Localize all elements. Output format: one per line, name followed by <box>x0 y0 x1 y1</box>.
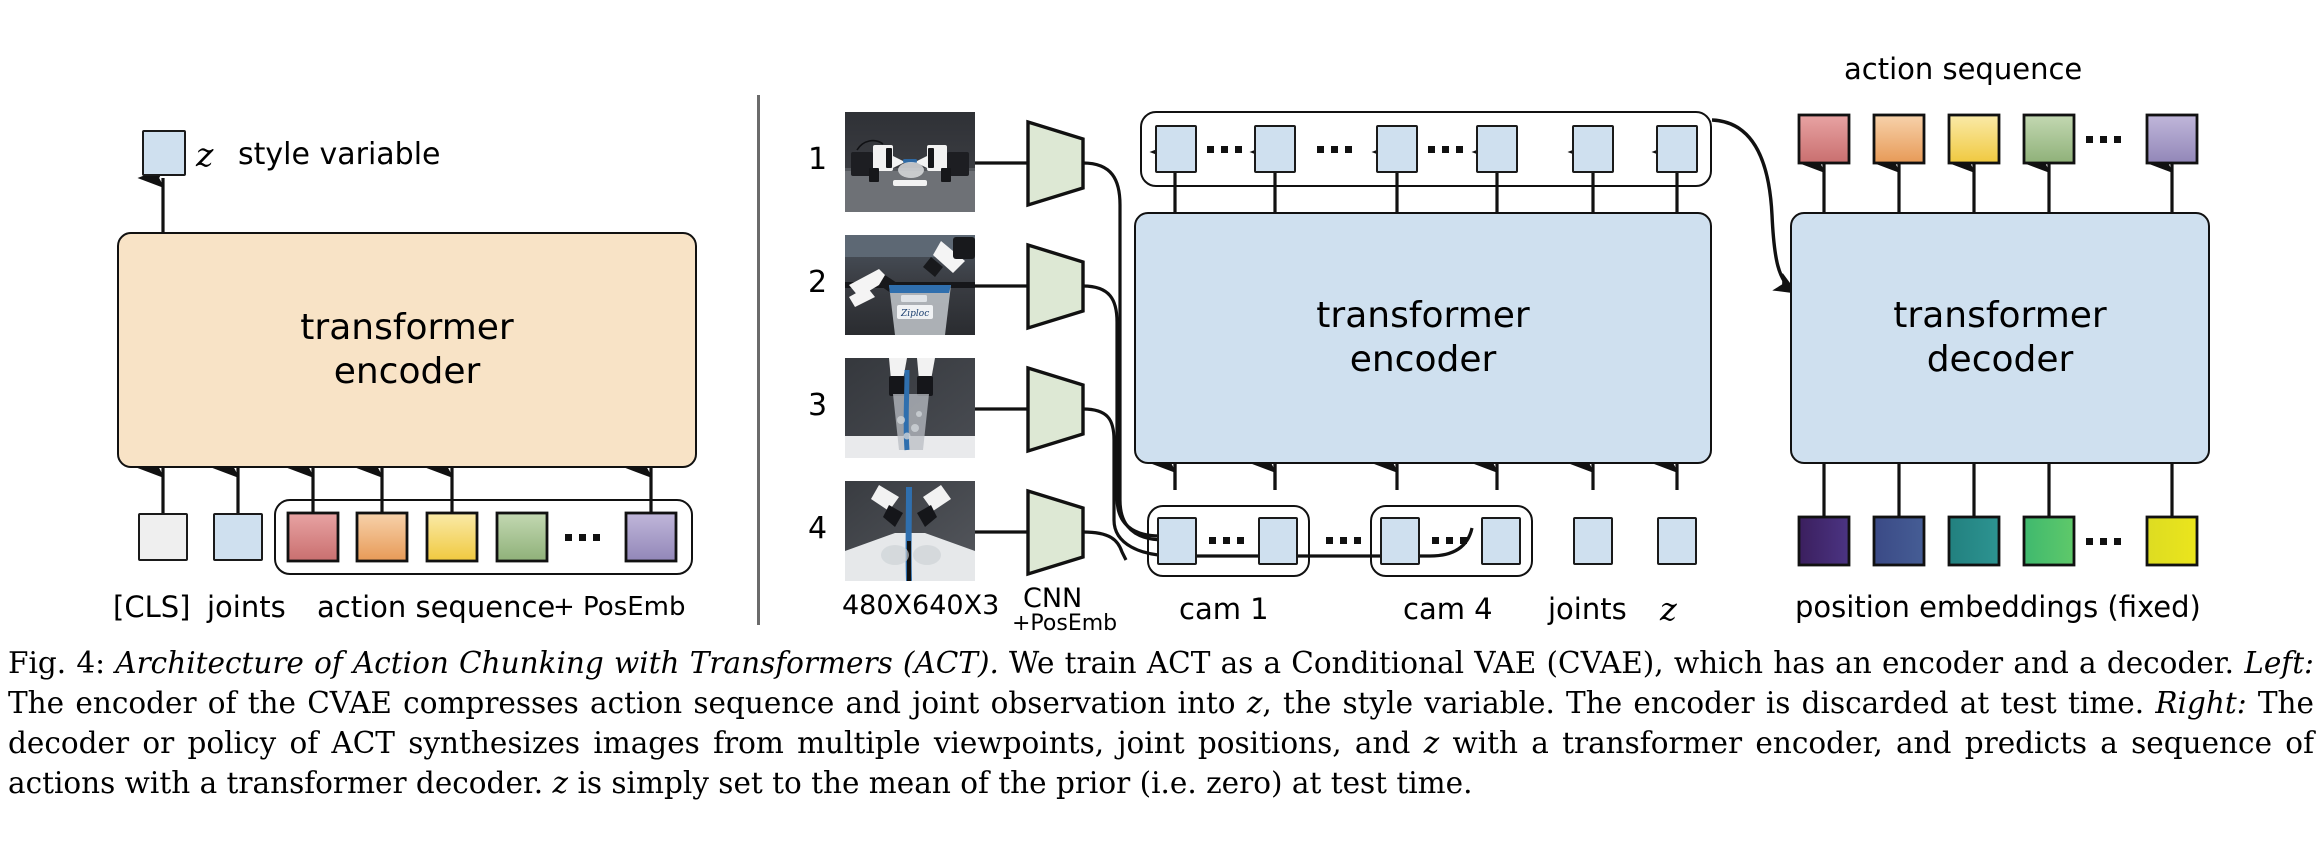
cam4-feature-token-first <box>1380 517 1420 565</box>
encoder-output-ellipsis-3 <box>1428 146 1463 153</box>
encoder-output-token-3 <box>1376 125 1418 173</box>
encoder-output-token-6 <box>1656 125 1698 173</box>
style-variable-token <box>142 130 186 176</box>
camera-thumbnail-2: Ziploc <box>845 235 975 335</box>
label-action-sequence-right: action sequence <box>1844 52 2082 86</box>
label-z-right: z <box>1660 590 1677 628</box>
label-joints-right: joints <box>1548 592 1627 626</box>
left-transformer-encoder: transformer encoder <box>117 232 697 468</box>
decoder-output-ellipsis <box>2086 136 2121 143</box>
caption-part6: is simply set to the mean of the prior (… <box>568 766 1472 800</box>
right-encoder-title-line2: encoder <box>1350 338 1497 382</box>
panel-divider <box>757 95 760 625</box>
label-action-sequence: action sequence <box>317 590 555 624</box>
left-encoder-title-line1: transformer <box>300 306 513 350</box>
caption-right-lead: Right: <box>2155 686 2246 720</box>
camera-thumbnail-1 <box>845 112 975 212</box>
joints-token <box>213 513 263 561</box>
action-sequence-group <box>274 499 693 575</box>
caption-title: Architecture of Action Chunking with Tra… <box>115 646 999 680</box>
caption-part1: We train ACT as a Conditional VAE (CVAE)… <box>999 646 2244 680</box>
left-encoder-title-line2: encoder <box>334 350 481 394</box>
right-encoder-title-line1: transformer <box>1316 294 1529 338</box>
cam1-feature-token-last <box>1258 517 1298 565</box>
decoder-title-line2: decoder <box>1927 338 2074 382</box>
camera-thumbnail-4 <box>845 481 975 581</box>
figure-caption: Fig. 4: Architecture of Action Chunking … <box>8 644 2314 804</box>
right-transformer-encoder: transformer encoder <box>1134 212 1712 464</box>
label-cam1: cam 1 <box>1179 592 1269 626</box>
label-cls: [CLS] <box>113 590 190 624</box>
figure-act-architecture: z style variable transformer encoder [CL… <box>0 0 2320 844</box>
cam4-ellipsis <box>1432 537 1467 544</box>
label-position-embeddings: position embeddings (fixed) <box>1795 590 2201 624</box>
cam4-feature-token-last <box>1481 517 1521 565</box>
caption-z-2: z <box>1424 726 1440 760</box>
encoder-output-ellipsis-2 <box>1317 146 1352 153</box>
encoder-output-ellipsis-1 <box>1207 146 1242 153</box>
encoder-output-token-5 <box>1572 125 1614 173</box>
caption-part2: The encoder of the CVAE compresses actio… <box>8 686 1247 720</box>
label-image-size: 480X640X3 <box>842 590 999 621</box>
transformer-decoder: transformer decoder <box>1790 212 2210 464</box>
decoder-title-line1: transformer <box>1893 294 2106 338</box>
cams-between-ellipsis <box>1326 537 1361 544</box>
style-variable-symbol: z <box>196 135 213 174</box>
joints-input-token <box>1573 517 1613 565</box>
encoder-output-token-1 <box>1155 125 1197 173</box>
label-joints: joints <box>207 590 286 624</box>
camera-index-3: 3 <box>808 388 827 423</box>
caption-z-3: z <box>553 766 569 800</box>
style-variable-label: style variable <box>238 137 441 172</box>
caption-left-lead: Left: <box>2244 646 2314 680</box>
caption-fig-number: Fig. 4: <box>8 646 105 680</box>
encoder-output-token-2 <box>1254 125 1296 173</box>
cam1-ellipsis <box>1209 537 1244 544</box>
label-cnn: CNN <box>1023 583 1082 614</box>
svg-text:Ziploc: Ziploc <box>900 309 929 319</box>
label-cam4: cam 4 <box>1403 592 1493 626</box>
action-sequence-ellipsis <box>565 534 600 541</box>
z-input-token <box>1657 517 1697 565</box>
label-cnn-posemb: +PosEmb <box>1012 611 1117 636</box>
cam1-feature-token-first <box>1157 517 1197 565</box>
camera-thumbnail-3 <box>845 358 975 458</box>
cls-token <box>138 513 188 561</box>
camera-index-2: 2 <box>808 265 827 300</box>
caption-part3: , the style variable. The encoder is dis… <box>1262 686 2155 720</box>
camera-index-1: 1 <box>808 142 827 177</box>
label-posemb: + PosEmb <box>553 592 686 622</box>
posemb-ellipsis <box>2086 538 2121 545</box>
camera-index-4: 4 <box>808 511 827 546</box>
encoder-output-token-4 <box>1476 125 1518 173</box>
caption-z-1: z <box>1247 686 1263 720</box>
